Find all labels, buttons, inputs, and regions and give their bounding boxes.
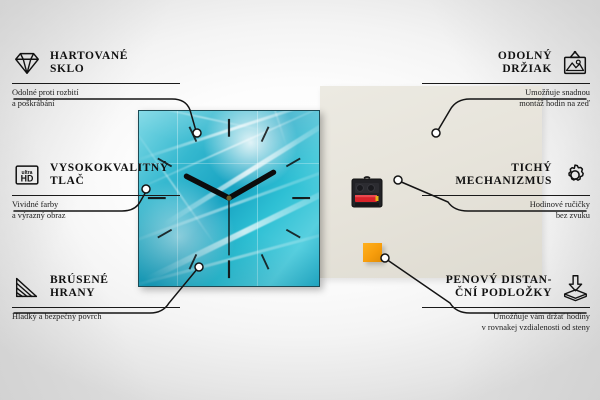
- framed-picture-hanger-icon: [560, 48, 590, 78]
- feature-description: Hodinové ručičky bez zvuku: [422, 200, 590, 221]
- feature-divider: [422, 307, 590, 308]
- feature-ground-edges: BRÚSENÉ HRANY Hladký a bezpečný povrch: [12, 272, 180, 323]
- arrow-onto-stack-icon: [560, 272, 590, 302]
- feature-hd-print: ultra HD VYSOKOKVALITNÝ TLAČ Vividné far…: [12, 160, 180, 221]
- clock-movement-mechanism: [347, 174, 387, 214]
- feature-title: PENOVÝ DISTAN- ČNÍ PODLOŽKY: [446, 274, 552, 301]
- feature-title: HARTOVANÉ SKLO: [50, 50, 128, 77]
- feature-tempered-glass: HARTOVANÉ SKLO Odolné proti rozbití a po…: [12, 48, 180, 109]
- feature-quiet-mechanism: TICHÝ MECHANIZMUS Hodinové ručičky bez z…: [422, 160, 590, 221]
- feature-description: Umožňuje vám držať hodiny v rovnakej vzd…: [422, 312, 590, 333]
- feature-description: Odolné proti rozbití a poškrábání: [12, 88, 180, 109]
- gear-icon: [560, 160, 590, 190]
- feature-header: BRÚSENÉ HRANY: [12, 272, 180, 302]
- feature-divider: [12, 83, 180, 84]
- diamond-icon: [12, 48, 42, 78]
- feature-header: TICHÝ MECHANIZMUS: [422, 160, 590, 190]
- feature-header: ODOLNÝ DRŽIAK: [422, 48, 590, 78]
- feature-header: PENOVÝ DISTAN- ČNÍ PODLOŽKY: [422, 272, 590, 302]
- feature-foam-spacers: PENOVÝ DISTAN- ČNÍ PODLOŽKY Umožňuje vám…: [422, 272, 590, 333]
- feature-divider: [12, 307, 180, 308]
- ultra-hd-bottom-text: HD: [21, 174, 34, 184]
- feature-holder: ODOLNÝ DRŽIAK Umožňuje snadnou montáž ho…: [422, 48, 590, 109]
- feature-divider: [422, 83, 590, 84]
- infographic-canvas: HARTOVANÉ SKLO Odolné proti rozbití a po…: [0, 0, 600, 400]
- feature-title: TICHÝ MECHANIZMUS: [455, 162, 552, 189]
- feature-description: Umožňuje snadnou montáž hodin na zeď: [422, 88, 590, 109]
- ultra-hd-badge-icon: ultra HD: [12, 160, 42, 190]
- hatched-edges-icon: [12, 272, 42, 302]
- feature-title: ODOLNÝ DRŽIAK: [498, 50, 552, 77]
- feature-description: Vividné farby a výrazný obraz: [12, 200, 180, 221]
- feature-header: HARTOVANÉ SKLO: [12, 48, 180, 78]
- feature-header: ultra HD VYSOKOKVALITNÝ TLAČ: [12, 160, 180, 190]
- feature-description: Hladký a bezpečný povrch: [12, 312, 180, 323]
- feature-title: VYSOKOKVALITNÝ TLAČ: [50, 162, 169, 189]
- feature-divider: [422, 195, 590, 196]
- foam-spacer-pad: [363, 243, 382, 262]
- feature-divider: [12, 195, 180, 196]
- feature-title: BRÚSENÉ HRANY: [50, 274, 109, 301]
